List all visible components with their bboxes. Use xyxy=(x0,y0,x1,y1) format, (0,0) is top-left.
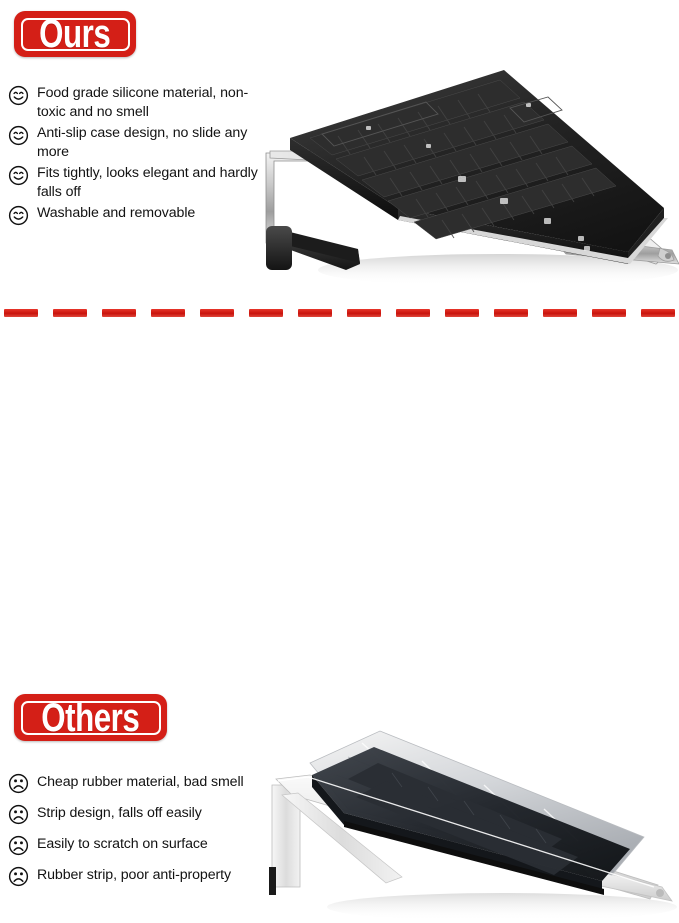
feature-text: Strip design, falls off easily xyxy=(37,803,202,823)
feature-list-others: Cheap rubber material, bad smell Strip d… xyxy=(8,772,288,896)
badge-others-border: Others xyxy=(21,701,161,735)
divider-dash xyxy=(102,309,136,317)
divider-dash xyxy=(396,309,430,317)
divider-dash xyxy=(347,309,381,317)
keyboard-on-silver-stand-photo xyxy=(248,58,679,294)
happy-face-icon xyxy=(8,205,29,226)
divider-dash xyxy=(298,309,332,317)
happy-face-icon xyxy=(8,165,29,186)
red-dashed-divider xyxy=(4,308,675,317)
divider-dash xyxy=(53,309,87,317)
badge-others: Others xyxy=(14,694,167,741)
divider-dash xyxy=(151,309,185,317)
feature-text: Fits tightly, looks elegant and hardly f… xyxy=(37,164,266,202)
comparison-section-ours: Ours Food grade silicone material, non-t… xyxy=(0,0,679,300)
sad-face-icon xyxy=(8,835,29,856)
badge-ours: Ours xyxy=(14,11,136,57)
feature-text: Washable and removable xyxy=(37,204,195,223)
list-item: Food grade silicone material, non-toxic … xyxy=(8,84,266,122)
divider-dash xyxy=(4,309,38,317)
badge-ours-border: Ours xyxy=(21,18,130,51)
happy-face-icon xyxy=(8,85,29,106)
feature-text: Food grade silicone material, non-toxic … xyxy=(37,84,266,122)
feature-text: Easily to scratch on surface xyxy=(37,834,208,854)
badge-others-label: Others xyxy=(41,698,139,737)
happy-face-icon xyxy=(8,125,29,146)
list-item: Strip design, falls off easily xyxy=(8,803,288,825)
list-item: Rubber strip, poor anti-property xyxy=(8,865,288,887)
feature-list-ours: Food grade silicone material, non-toxic … xyxy=(8,84,266,228)
badge-ours-label: Ours xyxy=(39,14,110,53)
keyboard-on-clear-acrylic-stand-photo xyxy=(252,717,679,923)
list-item: Anti-slip case design, no slide any more xyxy=(8,124,266,162)
divider-dash xyxy=(543,309,577,317)
sad-face-icon xyxy=(8,804,29,825)
list-item: Easily to scratch on surface xyxy=(8,834,288,856)
divider-dash xyxy=(445,309,479,317)
sad-face-icon xyxy=(8,866,29,887)
divider-dash xyxy=(641,309,675,317)
divider-dash xyxy=(494,309,528,317)
list-item: Washable and removable xyxy=(8,204,266,226)
feature-text: Anti-slip case design, no slide any more xyxy=(37,124,266,162)
divider-dash xyxy=(592,309,626,317)
list-item: Cheap rubber material, bad smell xyxy=(8,772,288,794)
feature-text: Rubber strip, poor anti-property xyxy=(37,865,231,885)
comparison-section-others: Others Cheap rubber material, bad smell xyxy=(0,325,679,602)
divider-dash xyxy=(249,309,283,317)
feature-text: Cheap rubber material, bad smell xyxy=(37,772,244,792)
divider-dash xyxy=(200,309,234,317)
sad-face-icon xyxy=(8,773,29,794)
list-item: Fits tightly, looks elegant and hardly f… xyxy=(8,164,266,202)
